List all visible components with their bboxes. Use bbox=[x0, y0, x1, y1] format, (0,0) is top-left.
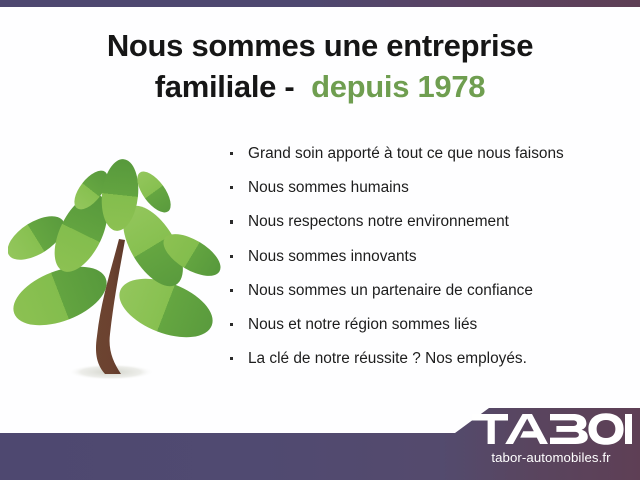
bullet-dot-icon bbox=[230, 255, 233, 258]
bullet-dot-icon bbox=[230, 357, 233, 360]
list-item-label: La clé de notre réussite ? Nos employés. bbox=[248, 350, 527, 367]
list-item: Nous sommes humains bbox=[228, 179, 628, 197]
list-item-label: Nous respectons notre environnement bbox=[248, 213, 509, 230]
list-item: Nous respectons notre environnement bbox=[228, 213, 628, 231]
tabor-wordmark bbox=[470, 412, 632, 446]
slide-canvas: Nous sommes une entreprise familiale - d… bbox=[0, 0, 640, 480]
list-item-label: Grand soin apporté à tout ce que nous fa… bbox=[248, 145, 564, 162]
headline-line-2-prefix: familiale - bbox=[155, 69, 311, 104]
brand-domain-label[interactable]: tabor-automobiles.fr bbox=[470, 450, 632, 465]
headline-line-1: Nous sommes une entreprise bbox=[0, 26, 640, 67]
headline-accent-since-1978: depuis 1978 bbox=[311, 69, 485, 104]
bullet-dot-icon bbox=[230, 289, 233, 292]
list-item: La clé de notre réussite ? Nos employés. bbox=[228, 350, 628, 368]
tree-illustration bbox=[8, 150, 233, 390]
value-bullet-list: Grand soin apporté à tout ce que nous fa… bbox=[228, 145, 628, 384]
top-accent-bar bbox=[0, 0, 640, 7]
brand-logo[interactable]: tabor-automobiles.fr bbox=[470, 410, 640, 480]
list-item: Nous sommes un partenaire de confiance bbox=[228, 282, 628, 300]
list-item: Nous sommes innovants bbox=[228, 248, 628, 266]
list-item: Nous et notre région sommes liés bbox=[228, 316, 628, 334]
list-item-label: Nous sommes innovants bbox=[248, 248, 417, 265]
list-item-label: Nous sommes un partenaire de confiance bbox=[248, 282, 533, 299]
list-item-label: Nous et notre région sommes liés bbox=[248, 316, 477, 333]
list-item: Grand soin apporté à tout ce que nous fa… bbox=[228, 145, 628, 163]
list-item-label: Nous sommes humains bbox=[248, 179, 409, 196]
page-title: Nous sommes une entreprise familiale - d… bbox=[0, 26, 640, 108]
tree-trunk bbox=[96, 239, 125, 374]
headline-line-2: familiale - depuis 1978 bbox=[0, 67, 640, 108]
bullet-dot-icon bbox=[230, 220, 233, 223]
footer-band-left bbox=[0, 433, 470, 480]
bullet-dot-icon bbox=[230, 186, 233, 189]
bullet-dot-icon bbox=[230, 152, 233, 155]
bullet-dot-icon bbox=[230, 323, 233, 326]
